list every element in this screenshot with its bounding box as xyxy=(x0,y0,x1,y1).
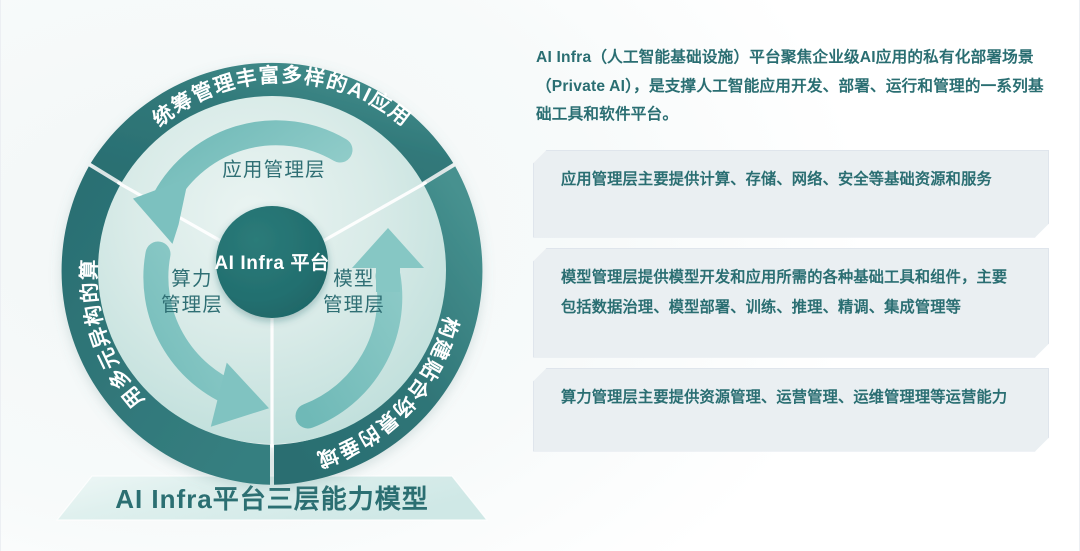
model-layer-card-text: 模型管理层提供模型开发和应用所需的各种基础工具和组件，主要包括数据治理、模型部署… xyxy=(561,263,1022,323)
svg-text:模型: 模型 xyxy=(333,268,374,290)
application-layer-card[interactable]: 应用管理层主要提供计算、存储、网络、安全等基础资源和服务 xyxy=(533,150,1049,238)
page-left-edge xyxy=(0,0,1,551)
ai-infra-capability-diagram: AI Infra平台三层能力模型 xyxy=(22,8,522,543)
core-label: AI Infra 平台 xyxy=(214,251,329,274)
compute-layer-card[interactable]: 算力管理层主要提供资源管理、运营管理、运维管理理等运营能力 xyxy=(533,368,1049,452)
layer-label-application: 应用管理层 xyxy=(222,159,326,181)
svg-text:管理层: 管理层 xyxy=(161,294,223,316)
svg-text:管理层: 管理层 xyxy=(323,294,385,316)
compute-layer-card-text: 算力管理层主要提供资源管理、运营管理、运维管理理等运营能力 xyxy=(561,383,1022,413)
banner-label: AI Infra平台三层能力模型 xyxy=(115,484,429,514)
page-root: AI Infra平台三层能力模型 xyxy=(0,0,1080,551)
lead-paragraph: AI Infra（人工智能基础设施）平台聚焦企业级AI应用的私有化部署场景（Pr… xyxy=(536,44,1046,130)
svg-text:算力: 算力 xyxy=(171,268,212,290)
model-layer-card[interactable]: 模型管理层提供模型开发和应用所需的各种基础工具和组件，主要包括数据治理、模型部署… xyxy=(533,248,1049,358)
application-layer-card-text: 应用管理层主要提供计算、存储、网络、安全等基础资源和服务 xyxy=(561,165,1022,195)
right-panel: AI Infra（人工智能基础设施）平台聚焦企业级AI应用的私有化部署场景（Pr… xyxy=(533,44,1049,462)
diagram-banner: AI Infra平台三层能力模型 xyxy=(57,476,487,520)
